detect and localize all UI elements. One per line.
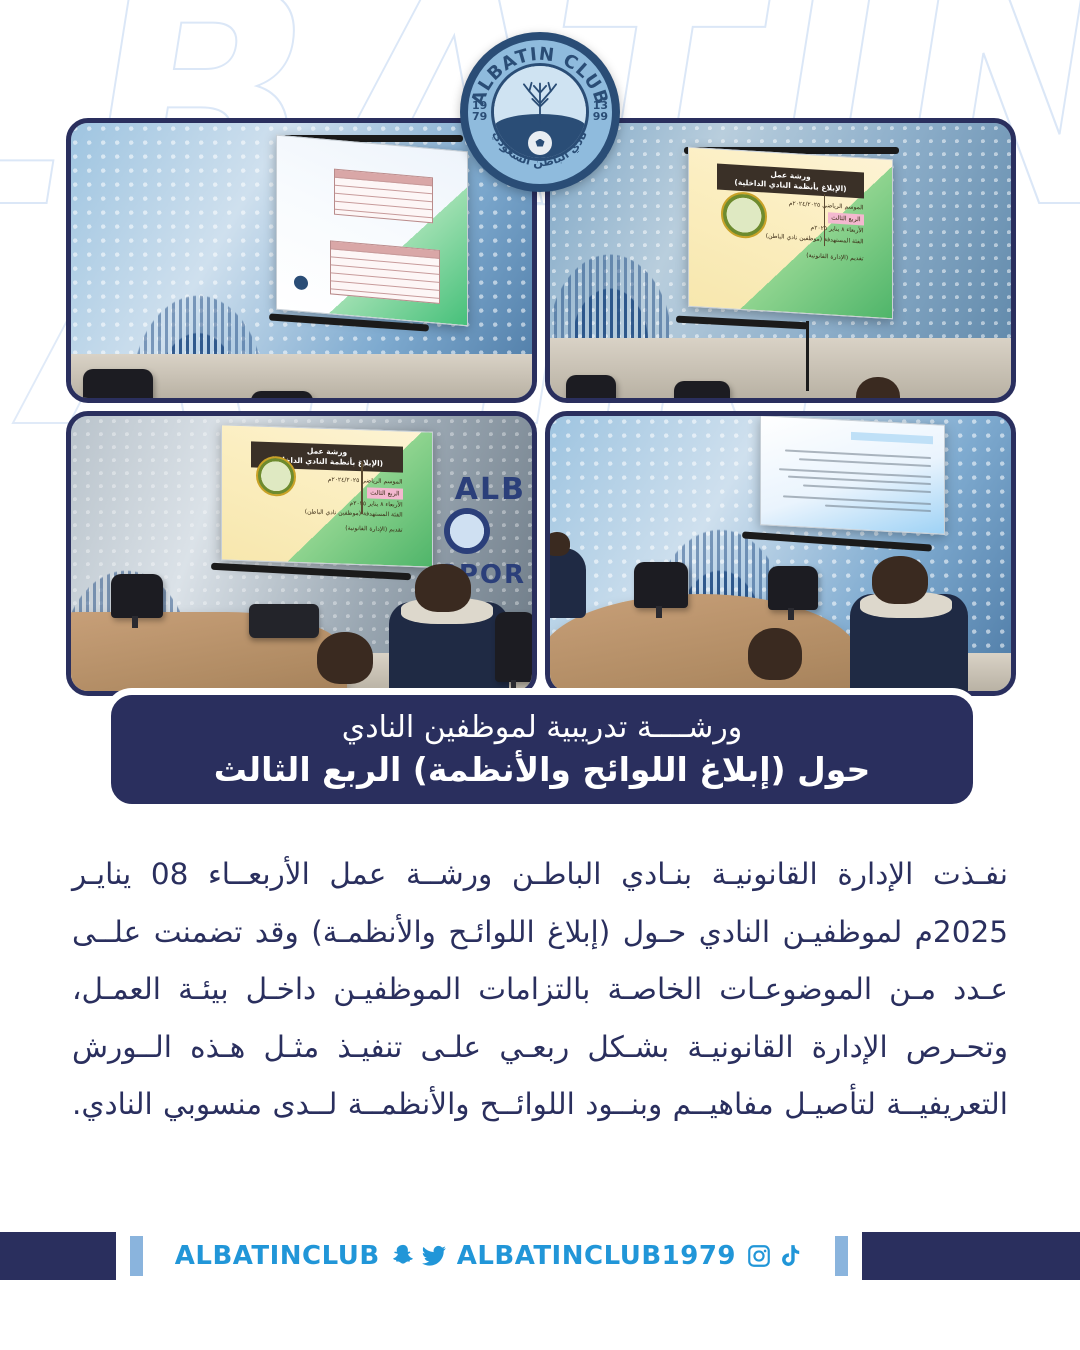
- slide-body: الموسم الرياضي ٢٠٢٤/٢٠٢٥م الربع الثالث ا…: [750, 197, 864, 265]
- projector-screen: [276, 135, 468, 327]
- footer-block-right: [0, 1232, 116, 1280]
- chair: [495, 612, 532, 682]
- crest-year-gregorian: 19 79: [472, 100, 487, 122]
- projector-screen: [760, 416, 945, 535]
- bullet-line: [799, 458, 931, 467]
- social-handle-secondary[interactable]: ALBATINCLUB1979: [457, 1241, 736, 1271]
- footer-tick-left: [835, 1236, 848, 1276]
- title-line-1: ورشــــة تدريبية لموظفين النادي: [342, 709, 743, 747]
- crest-core: [491, 63, 589, 161]
- social-handle-primary[interactable]: ALBATINCLUB: [175, 1241, 380, 1271]
- slide-separator: [824, 194, 826, 246]
- wall-brand-text: ALB: [455, 472, 526, 507]
- slide-presenter: تقديم (الإدارة القانونية): [750, 247, 864, 265]
- attendee-body: [550, 548, 586, 618]
- twitter-icon[interactable]: [421, 1243, 447, 1269]
- slide-tables-page: [277, 136, 467, 326]
- chair: [768, 566, 818, 610]
- chair: [83, 369, 153, 398]
- projector-screen: ورشة عمل (الإبلاغ بأنظمة النادي الداخلية…: [688, 147, 893, 320]
- social-icons-group-2: [746, 1243, 803, 1269]
- snapchat-icon[interactable]: [390, 1243, 416, 1269]
- bullet-line: [803, 484, 931, 493]
- albatin-club-crest: ALBATIN CLUB نادي الباطن السعودي 19 79 1…: [460, 32, 620, 192]
- screen-stand: [806, 321, 809, 391]
- chair: [111, 574, 163, 618]
- instagram-icon[interactable]: [746, 1243, 772, 1269]
- slide-separator: [361, 462, 363, 514]
- tiktok-icon[interactable]: [777, 1243, 803, 1269]
- crest-football-icon: [528, 131, 552, 155]
- attendee-head: [748, 628, 802, 680]
- slide-table-1: [334, 168, 433, 223]
- chair: [674, 381, 730, 398]
- title-line-2: حول (إبلاغ اللوائح والأنظمة) الربع الثال…: [214, 749, 871, 790]
- crest-tree-icon: [517, 79, 563, 125]
- slide-body: الموسم الرياضي ٢٠٢٤/٢٠٢٥م الربع الثالث ا…: [285, 473, 403, 536]
- floor: [550, 338, 1011, 399]
- wall-fan-motif: [550, 243, 680, 343]
- slide-title-page: ورشة عمل (الإبلاغ بأنظمة النادي الداخلية…: [689, 148, 892, 318]
- chair: [634, 562, 688, 608]
- chair: [251, 391, 313, 398]
- attendee-head: [550, 532, 570, 556]
- social-icons-group-1: [390, 1243, 447, 1269]
- bullet-line: [825, 505, 931, 513]
- footer-tick-right: [130, 1236, 143, 1276]
- laptop-bag: [249, 604, 319, 638]
- slide-club-logo: [256, 456, 296, 497]
- photo-presenter-pointing-bullets-slide: [545, 411, 1016, 696]
- wall-brand-badge: [444, 508, 490, 554]
- slide-presenter: تقديم (الإدارة القانونية): [285, 522, 403, 537]
- attendee-head: [415, 564, 471, 612]
- body-paragraph: نفـذت الإدارة القانونيـة بنـادي الباطـن …: [72, 846, 1008, 1134]
- slide-corner-logo: [294, 275, 308, 290]
- footer-block-left: [862, 1232, 1080, 1280]
- slide-quarter: الربع الثالث: [367, 487, 402, 499]
- attendee-head: [872, 556, 928, 604]
- bullet-line: [783, 495, 931, 505]
- poster-root: ALBATIN ALBATIN ورشة عمل (الإبلاغ بأنظمة…: [0, 0, 1080, 1350]
- crest-year-hijri: 13 99: [593, 100, 608, 122]
- photo-room-wide-title-slide: ورشة عمل (الإبلاغ بأنظمة النادي الداخلية…: [66, 411, 537, 696]
- projector-screen: ورشة عمل (الإبلاغ بأنظمة النادي الداخلية…: [221, 424, 433, 567]
- slide-section-header: [851, 432, 933, 444]
- photo-grid: ورشة عمل (الإبلاغ بأنظمة النادي الداخلية…: [66, 118, 1016, 696]
- footer-bar: ALBATINCLUB ALBATINCLUB1979: [0, 1232, 1080, 1280]
- footer-social-group: ALBATINCLUB ALBATINCLUB1979: [157, 1241, 821, 1271]
- title-banner: ورشــــة تدريبية لموظفين النادي حول (إبل…: [104, 688, 980, 811]
- slide-bullets-page: [761, 416, 944, 534]
- slide-table-2: [330, 241, 440, 305]
- chair: [566, 375, 616, 398]
- slide-title-page: ورشة عمل (الإبلاغ بأنظمة النادي الداخلية…: [222, 425, 432, 566]
- attendee-head: [317, 632, 373, 684]
